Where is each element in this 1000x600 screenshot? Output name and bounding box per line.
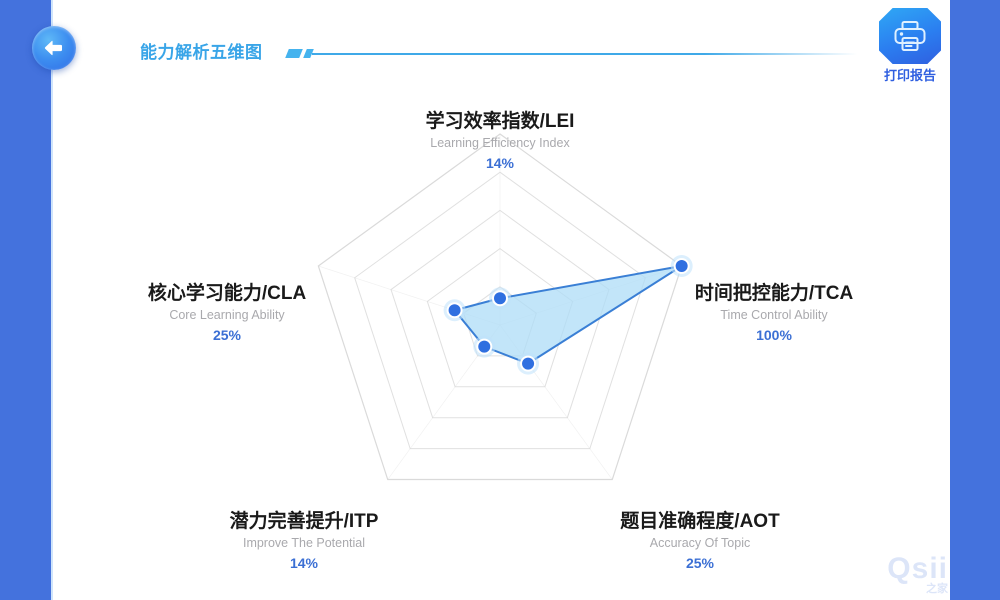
axis-sub-aot: Accuracy Of Topic bbox=[620, 534, 779, 553]
app-root: 能力解析五维图 打印报告 学习效率指数/LEI Learning Efficie… bbox=[0, 0, 1000, 600]
axis-sub-lei: Learning Efficiency Index bbox=[426, 134, 575, 153]
radar-point[interactable] bbox=[444, 299, 466, 321]
axis-label-itp: 潜力完善提升/ITP Improve The Potential 14% bbox=[230, 510, 379, 573]
radar-point[interactable] bbox=[671, 255, 693, 277]
axis-label-cla: 核心学习能力/CLA Core Learning Ability 25% bbox=[148, 282, 306, 345]
axis-name-tca: 时间把控能力/TCA bbox=[695, 282, 853, 306]
axis-value-itp: 14% bbox=[230, 553, 379, 573]
axis-name-itp: 潜力完善提升/ITP bbox=[230, 510, 379, 534]
axis-label-lei: 学习效率指数/LEI Learning Efficiency Index 14% bbox=[426, 110, 575, 173]
axis-value-tca: 100% bbox=[695, 325, 853, 345]
axis-name-lei: 学习效率指数/LEI bbox=[426, 110, 575, 134]
radar-point[interactable] bbox=[489, 287, 511, 309]
axis-label-tca: 时间把控能力/TCA Time Control Ability 100% bbox=[695, 282, 853, 345]
axis-value-cla: 25% bbox=[148, 325, 306, 345]
axis-label-aot: 题目准确程度/AOT Accuracy Of Topic 25% bbox=[620, 510, 779, 573]
radar-point[interactable] bbox=[517, 353, 539, 375]
axis-name-cla: 核心学习能力/CLA bbox=[148, 282, 306, 306]
axis-sub-itp: Improve The Potential bbox=[230, 534, 379, 553]
axis-sub-tca: Time Control Ability bbox=[695, 306, 853, 325]
axis-sub-cla: Core Learning Ability bbox=[148, 306, 306, 325]
axis-value-aot: 25% bbox=[620, 553, 779, 573]
axis-value-lei: 14% bbox=[426, 153, 575, 173]
axis-name-aot: 题目准确程度/AOT bbox=[620, 510, 779, 534]
radar-point[interactable] bbox=[473, 336, 495, 358]
